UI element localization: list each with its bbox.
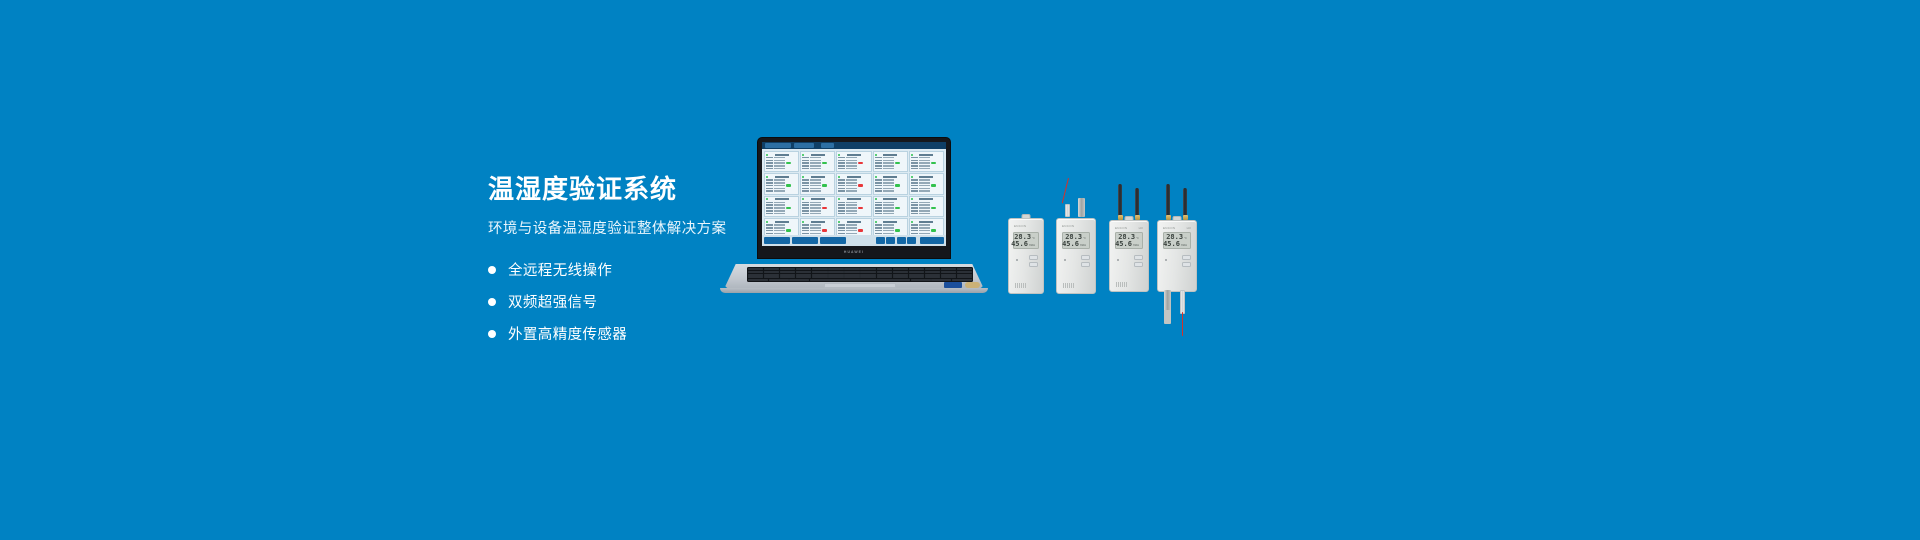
card-field-value <box>810 160 821 162</box>
card-field-key <box>766 190 773 192</box>
card-field-value <box>774 179 785 181</box>
device-brand-row: ENCON H3 <box>1115 226 1143 230</box>
keyboard-key[interactable] <box>748 271 763 273</box>
hero-banner: 温湿度验证系统 环境与设备温湿度验证整体解决方案 全远程无线操作 双频超强信号 … <box>0 0 1920 540</box>
keyboard-row-spacebar <box>748 279 972 281</box>
keyboard-key[interactable] <box>789 279 809 281</box>
card-field-row <box>802 204 833 206</box>
keyboard-key[interactable] <box>764 274 779 276</box>
card-field-value <box>883 188 894 190</box>
keyboard-key[interactable] <box>828 271 843 273</box>
device-brand-row: ENCON <box>1014 224 1038 228</box>
device-card[interactable] <box>764 151 799 172</box>
device-card-grid <box>764 151 944 234</box>
card-field-value <box>774 224 785 226</box>
card-field-key <box>911 213 918 215</box>
device-card[interactable] <box>836 151 871 172</box>
card-field-value <box>846 162 857 164</box>
card-field-value <box>883 162 894 164</box>
keyboard-key[interactable] <box>860 274 875 276</box>
card-field-key <box>875 210 882 212</box>
card-field-value <box>810 182 821 184</box>
card-field-row <box>875 227 906 229</box>
card-field-row <box>766 224 797 226</box>
card-field-key <box>911 168 918 170</box>
device-card[interactable] <box>800 196 835 217</box>
keyboard-key[interactable] <box>796 268 811 270</box>
status-badge-ok <box>822 184 827 186</box>
card-field-value <box>810 204 821 206</box>
card-field-row <box>802 168 833 170</box>
laptop-keyboard[interactable] <box>747 267 973 282</box>
device-button-up[interactable] <box>1134 255 1143 260</box>
card-field-key <box>875 157 882 159</box>
keyboard-key[interactable] <box>931 279 951 281</box>
keyboard-key[interactable] <box>941 271 956 273</box>
keyboard-key[interactable] <box>812 274 827 276</box>
card-field-key <box>838 160 845 162</box>
keyboard-key[interactable] <box>748 279 768 281</box>
card-field-value <box>846 202 857 204</box>
feature-label: 外置高精度传感器 <box>508 323 627 344</box>
card-field-row <box>766 157 797 159</box>
card-status-led-icon <box>838 198 840 200</box>
card-field-value <box>810 230 821 232</box>
keyboard-key[interactable] <box>860 268 875 270</box>
card-field-value <box>883 207 894 209</box>
card-field-row <box>838 185 869 187</box>
card-field-value <box>774 230 785 232</box>
brand-logo: HUAWEI <box>844 250 864 254</box>
card-field-row <box>875 185 906 187</box>
keyboard-key[interactable] <box>893 271 908 273</box>
card-field-value <box>774 207 785 209</box>
vent-grille-icon <box>1116 282 1127 287</box>
keyboard-key[interactable] <box>764 268 779 270</box>
card-field-key <box>911 204 918 206</box>
card-field-key <box>911 210 918 212</box>
status-badge-ok <box>931 229 936 231</box>
card-field-key <box>802 185 809 187</box>
keyboard-key[interactable] <box>844 268 859 270</box>
status-badge-alarm <box>822 229 827 231</box>
card-field-row <box>838 179 869 181</box>
page-button[interactable] <box>907 237 916 245</box>
card-field-row <box>875 213 906 215</box>
device-button-down[interactable] <box>1134 262 1143 267</box>
card-field-row <box>875 230 906 232</box>
bullet-dot-icon <box>488 298 496 306</box>
keyboard-key[interactable] <box>769 279 789 281</box>
status-badge-alarm <box>858 229 863 231</box>
card-field-key <box>838 207 845 209</box>
keyboard-key[interactable] <box>844 271 859 273</box>
card-field-row <box>802 227 833 229</box>
card-field-row <box>911 227 942 229</box>
card-title <box>919 154 933 156</box>
keyboard-key[interactable] <box>828 276 843 278</box>
card-field-row <box>766 168 797 170</box>
card-field-key <box>911 160 918 162</box>
toolbar-item[interactable] <box>821 143 834 148</box>
bullet-dot-icon <box>488 330 496 338</box>
keyboard-key[interactable] <box>812 276 827 278</box>
device-card[interactable] <box>909 196 944 217</box>
card-field-row <box>838 168 869 170</box>
card-field-key <box>838 165 845 167</box>
card-field-row <box>838 210 869 212</box>
card-title <box>919 176 933 178</box>
keyboard-key[interactable] <box>911 279 931 281</box>
bottom-action-button[interactable] <box>820 237 846 245</box>
card-field-row <box>838 190 869 192</box>
card-field-key <box>766 182 773 184</box>
keyboard-key[interactable] <box>909 268 924 270</box>
page-button[interactable] <box>876 237 885 245</box>
keyboard-key[interactable] <box>957 271 972 273</box>
card-field-key <box>911 165 918 167</box>
card-field-value <box>883 204 894 206</box>
keyboard-key[interactable] <box>810 279 910 281</box>
card-field-row <box>838 162 869 164</box>
lcd-display: 28.3 ℃ 45.6 %RH <box>1163 232 1191 249</box>
card-field-row <box>838 230 869 232</box>
card-field-row <box>802 165 833 167</box>
keyboard-key[interactable] <box>844 276 859 278</box>
card-field-key <box>838 179 845 181</box>
keyboard-key[interactable] <box>796 271 811 273</box>
card-field-key <box>875 213 882 215</box>
card-field-row <box>875 165 906 167</box>
card-field-key <box>802 210 809 212</box>
card-field-value <box>774 210 785 212</box>
card-field-value <box>919 162 930 164</box>
device-brand-row: ENCON <box>1062 224 1090 228</box>
status-badge-ok <box>931 207 936 209</box>
status-led-icon <box>1165 259 1167 261</box>
keyboard-key[interactable] <box>780 268 795 270</box>
card-field-row <box>875 190 906 192</box>
card-field-key <box>838 233 845 235</box>
card-field-value <box>846 157 857 159</box>
card-field-key <box>802 227 809 229</box>
page-button[interactable] <box>897 237 906 245</box>
card-field-key <box>766 168 773 170</box>
card-field-row <box>838 227 869 229</box>
keyboard-key[interactable] <box>748 276 763 278</box>
card-title <box>775 176 789 178</box>
card-field-row <box>802 230 833 232</box>
card-status-led-icon <box>911 198 913 200</box>
device-button-group <box>1182 255 1191 267</box>
keyboard-key[interactable] <box>957 268 972 270</box>
card-field-key <box>875 162 882 164</box>
card-field-key <box>838 227 845 229</box>
toolbar-item[interactable] <box>765 143 791 148</box>
status-badge-ok <box>786 207 791 209</box>
antenna-icon <box>1135 188 1139 217</box>
card-status-led-icon <box>766 221 768 223</box>
antenna-icon <box>1183 188 1187 217</box>
keyboard-key[interactable] <box>812 271 827 273</box>
keyboard-key[interactable] <box>860 276 875 278</box>
device-button-down[interactable] <box>1182 262 1191 267</box>
card-field-key <box>875 202 882 204</box>
keyboard-key[interactable] <box>877 268 892 270</box>
card-field-value <box>846 204 857 206</box>
device-card[interactable] <box>836 173 871 194</box>
keyboard-key[interactable] <box>893 276 908 278</box>
card-field-row <box>875 204 906 206</box>
keyboard-key[interactable] <box>925 274 940 276</box>
keyboard-key[interactable] <box>925 268 940 270</box>
card-field-value <box>883 190 894 192</box>
keyboard-key[interactable] <box>941 276 956 278</box>
card-field-value <box>883 185 894 187</box>
card-field-key <box>802 182 809 184</box>
dashboard-bottom-bar <box>762 235 946 246</box>
card-field-value <box>774 168 785 170</box>
card-field-key <box>838 188 845 190</box>
card-field-row <box>802 162 833 164</box>
card-field-value <box>810 162 821 164</box>
laptop-lid: HUAWEI <box>758 138 950 258</box>
device-button-group <box>1081 255 1090 267</box>
device-card[interactable] <box>909 173 944 194</box>
lcd-humidity-line: 45.6 %RH <box>1017 241 1035 248</box>
device-card[interactable] <box>800 173 835 194</box>
sensor-cable-red <box>1182 312 1183 336</box>
card-field-key <box>802 190 809 192</box>
keyboard-key[interactable] <box>957 276 972 278</box>
keyboard-key[interactable] <box>780 274 795 276</box>
card-field-row <box>766 182 797 184</box>
page-button[interactable] <box>886 237 895 245</box>
card-field-row <box>911 213 942 215</box>
card-field-row <box>766 165 797 167</box>
card-field-key <box>802 165 809 167</box>
card-field-value <box>774 162 785 164</box>
keyboard-key[interactable] <box>909 274 924 276</box>
device-model: H3 <box>1187 226 1191 230</box>
card-title <box>775 154 789 156</box>
keyboard-key[interactable] <box>909 271 924 273</box>
antenna-icon <box>1166 184 1170 217</box>
card-field-key <box>838 224 845 226</box>
card-title <box>883 154 897 156</box>
card-field-key <box>875 207 882 209</box>
keyboard-key[interactable] <box>941 268 956 270</box>
dashboard-toolbar <box>762 142 946 149</box>
keyboard-key[interactable] <box>748 274 763 276</box>
card-field-value <box>919 168 930 170</box>
keyboard-key[interactable] <box>952 279 972 281</box>
card-field-value <box>810 233 821 235</box>
lcd-humidity-line: 45.6 %RH <box>1119 241 1139 248</box>
keyboard-key[interactable] <box>828 268 843 270</box>
card-field-key <box>911 224 918 226</box>
device-button-up[interactable] <box>1081 255 1090 260</box>
keyboard-key[interactable] <box>925 271 940 273</box>
card-field-key <box>838 168 845 170</box>
card-field-value <box>774 190 785 192</box>
card-title <box>883 176 897 178</box>
status-badge-ok <box>895 162 900 164</box>
card-field-key <box>802 224 809 226</box>
keyboard-key[interactable] <box>925 276 940 278</box>
keyboard-key[interactable] <box>877 274 892 276</box>
card-field-value <box>810 157 821 159</box>
card-field-value <box>919 233 930 235</box>
bottom-action-button[interactable] <box>792 237 818 245</box>
keyboard-key[interactable] <box>844 274 859 276</box>
device-card[interactable] <box>873 151 908 172</box>
card-field-key <box>838 185 845 187</box>
card-field-key <box>802 160 809 162</box>
bullet-dot-icon <box>488 266 496 274</box>
keyboard-key[interactable] <box>860 271 875 273</box>
device-card[interactable] <box>873 196 908 217</box>
status-badge-ok <box>786 184 791 186</box>
card-field-value <box>846 185 857 187</box>
card-field-value <box>774 185 785 187</box>
card-field-value <box>883 210 894 212</box>
bottom-right-button[interactable] <box>920 237 944 245</box>
device-card[interactable] <box>764 173 799 194</box>
device-card[interactable] <box>800 151 835 172</box>
card-field-key <box>875 182 882 184</box>
keyboard-key[interactable] <box>764 271 779 273</box>
vent-grille-icon <box>1015 283 1026 288</box>
card-field-row <box>911 182 942 184</box>
card-field-value <box>883 230 894 232</box>
card-field-value <box>846 168 857 170</box>
card-field-key <box>766 179 773 181</box>
card-field-value <box>883 165 894 167</box>
card-field-key <box>766 160 773 162</box>
device-body: ENCON 28.3 ℃ 45.6 %RH <box>1056 218 1096 294</box>
card-field-key <box>875 204 882 206</box>
status-badge-ok <box>786 229 791 231</box>
laptop-base-front-edge <box>720 288 988 293</box>
card-field-value <box>846 233 857 235</box>
card-field-row <box>875 201 906 203</box>
lcd-humidity-line: 45.6 %RH <box>1066 241 1086 248</box>
card-field-value <box>810 207 821 209</box>
device-button-up[interactable] <box>1182 255 1191 260</box>
card-field-key <box>802 179 809 181</box>
vent-grille-icon <box>1063 283 1074 288</box>
card-field-row <box>766 210 797 212</box>
card-field-value <box>846 179 857 181</box>
card-field-row <box>875 168 906 170</box>
keyboard-key[interactable] <box>909 276 924 278</box>
lcd-humidity-value: 45.6 <box>1115 241 1132 248</box>
keyboard-key[interactable] <box>780 271 795 273</box>
keyboard-key[interactable] <box>796 274 811 276</box>
card-field-key <box>766 227 773 229</box>
card-title <box>811 198 825 200</box>
card-field-row <box>802 190 833 192</box>
card-title <box>919 221 933 223</box>
keyboard-key[interactable] <box>957 274 972 276</box>
laptop-bezel: HUAWEI <box>758 246 950 258</box>
card-field-key <box>766 230 773 232</box>
card-field-key <box>766 157 773 159</box>
card-field-row <box>875 162 906 164</box>
keyboard-key[interactable] <box>780 276 795 278</box>
card-field-row <box>911 157 942 159</box>
card-field-row <box>802 210 833 212</box>
keyboard-key[interactable] <box>748 268 763 270</box>
keyboard-key[interactable] <box>941 274 956 276</box>
card-field-key <box>838 230 845 232</box>
card-status-led-icon <box>875 198 877 200</box>
card-status-led-icon <box>838 221 840 223</box>
card-field-row <box>802 185 833 187</box>
keyboard-key[interactable] <box>877 276 892 278</box>
card-field-row <box>875 207 906 209</box>
status-badge-ok <box>895 184 900 186</box>
device-card[interactable] <box>909 151 944 172</box>
device-card[interactable] <box>873 173 908 194</box>
laptop-product-image: HUAWEI <box>718 138 990 298</box>
device-card[interactable] <box>836 196 871 217</box>
card-field-value <box>846 230 857 232</box>
card-field-value <box>774 157 785 159</box>
card-field-row <box>838 201 869 203</box>
card-field-row <box>911 210 942 212</box>
bottom-action-button[interactable] <box>764 237 790 245</box>
card-field-value <box>883 160 894 162</box>
card-status-led-icon <box>875 154 877 156</box>
keyboard-key[interactable] <box>812 268 827 270</box>
status-led-icon <box>1117 259 1119 261</box>
sensor-cable-red <box>1062 178 1069 204</box>
card-field-key <box>875 185 882 187</box>
card-field-value <box>774 202 785 204</box>
device-button-up[interactable] <box>1029 255 1038 260</box>
keyboard-key[interactable] <box>764 276 779 278</box>
device-button-down[interactable] <box>1081 262 1090 267</box>
card-field-row <box>911 207 942 209</box>
card-field-value <box>883 202 894 204</box>
keyboard-key[interactable] <box>893 268 908 270</box>
lcd-display: 28.3 ℃ 45.6 %RH <box>1115 232 1143 249</box>
card-field-key <box>911 202 918 204</box>
keyboard-key[interactable] <box>877 271 892 273</box>
card-field-row <box>838 207 869 209</box>
toolbar-item[interactable] <box>794 143 814 148</box>
device-brand: ENCON <box>1014 224 1026 228</box>
lcd-display: 28.3 ℃ 45.6 %RH <box>1062 232 1090 249</box>
keyboard-key[interactable] <box>828 274 843 276</box>
keyboard-key[interactable] <box>893 274 908 276</box>
card-status-led-icon <box>911 176 913 178</box>
card-field-key <box>802 230 809 232</box>
device-handheld-logger-basic: ENCON 28.3 ℃ 45.6 %RH <box>1008 218 1044 294</box>
device-body: ENCON 28.3 ℃ 45.6 %RH <box>1008 218 1044 294</box>
card-field-key <box>802 157 809 159</box>
device-button-down[interactable] <box>1029 262 1038 267</box>
card-field-value <box>919 204 930 206</box>
card-field-key <box>911 185 918 187</box>
card-field-row <box>802 187 833 189</box>
card-field-key <box>911 162 918 164</box>
card-field-value <box>919 179 930 181</box>
keyboard-key[interactable] <box>796 276 811 278</box>
device-card[interactable] <box>764 196 799 217</box>
